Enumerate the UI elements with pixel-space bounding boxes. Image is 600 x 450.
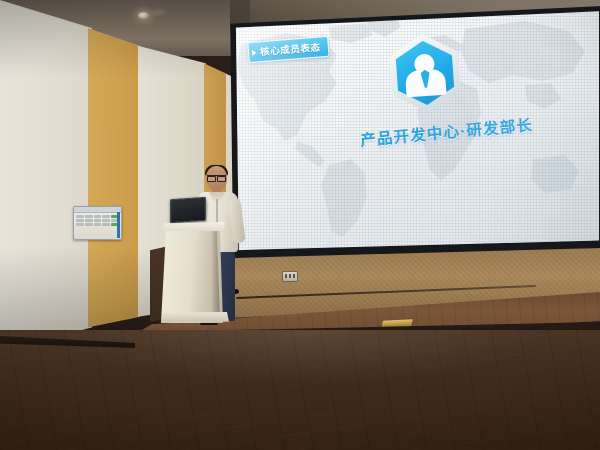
control-button[interactable] xyxy=(85,219,93,222)
outlet-slot xyxy=(289,274,291,278)
control-button[interactable] xyxy=(94,215,102,218)
control-panel-buttons[interactable] xyxy=(74,213,121,228)
laptop-icon[interactable] xyxy=(170,197,206,224)
podium-body xyxy=(168,231,220,319)
control-button[interactable] xyxy=(76,223,84,226)
outlet-slot xyxy=(293,274,295,278)
control-button[interactable] xyxy=(102,215,110,218)
outlet-slot xyxy=(285,274,287,278)
power-outlet-icon xyxy=(282,271,298,282)
podium-base xyxy=(161,312,229,323)
glasses-icon xyxy=(207,175,226,180)
control-button[interactable] xyxy=(94,223,102,226)
control-panel-strip xyxy=(117,212,120,238)
control-button[interactable] xyxy=(76,219,84,222)
control-button[interactable] xyxy=(76,215,84,218)
projection-screen[interactable]: 核心成员表态 产品开发中心·研发部长 xyxy=(233,9,599,254)
wall-control-panel[interactable] xyxy=(73,206,122,240)
floor-reflection xyxy=(0,330,600,450)
control-button[interactable] xyxy=(94,219,102,222)
control-button[interactable] xyxy=(85,215,93,218)
screen-glare xyxy=(233,9,599,254)
control-button[interactable] xyxy=(102,219,110,222)
presentation-scene-photo: 核心成员表态 产品开发中心·研发部长 xyxy=(0,0,600,450)
control-button[interactable] xyxy=(85,223,93,226)
control-button[interactable] xyxy=(102,223,110,226)
